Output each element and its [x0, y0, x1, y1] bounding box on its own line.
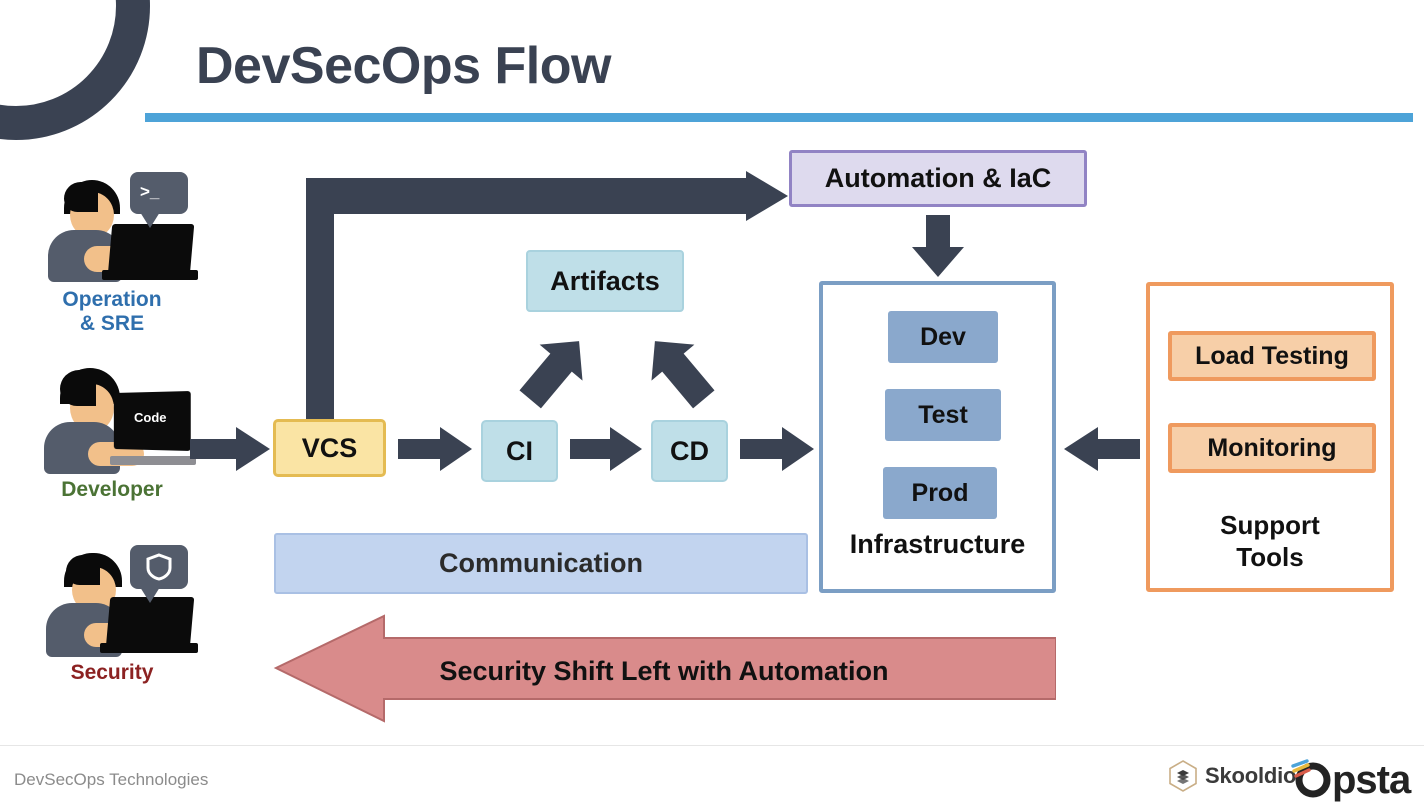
- connector-ci-to-cd: [570, 427, 642, 471]
- node-artifacts[interactable]: Artifacts: [526, 250, 684, 312]
- node-vcs[interactable]: VCS: [273, 419, 386, 477]
- connector-cd-to-artifacts: [640, 330, 720, 412]
- logo-skooldio: Skooldio: [1168, 760, 1296, 792]
- persona-label: Developer: [22, 478, 202, 502]
- corner-arc-decoration: [0, 0, 150, 140]
- bar-communication[interactable]: Communication: [274, 533, 808, 594]
- connector-support-tools-to-infrastructure: [1064, 427, 1140, 471]
- connector-developer-to-vcs: [190, 427, 270, 471]
- footer-caption: DevSecOps Technologies: [14, 770, 208, 790]
- skooldio-wordmark: Skooldio: [1205, 763, 1296, 789]
- footer-divider: [0, 745, 1424, 746]
- tool-load-testing[interactable]: Load Testing: [1168, 331, 1376, 381]
- persona-label: Security: [22, 661, 202, 685]
- persona-operation-sre: >_ Operation & SRE: [22, 172, 202, 337]
- opsta-ring-icon: [1288, 752, 1336, 800]
- shield-icon: [146, 553, 172, 581]
- person-shield-laptop-icon: [22, 545, 202, 657]
- connector-ci-to-artifacts: [514, 330, 594, 412]
- connector-cd-to-infrastructure: [740, 427, 814, 471]
- persona-label: Operation & SRE: [22, 288, 202, 337]
- persona-security: Security: [22, 545, 202, 685]
- env-prod[interactable]: Prod: [883, 467, 997, 519]
- support-tools-label: Support Tools: [1150, 510, 1390, 573]
- env-dev[interactable]: Dev: [888, 311, 998, 363]
- title-underline-rule: [145, 113, 1413, 122]
- logo-opsta: psta: [1288, 752, 1410, 800]
- tool-monitoring[interactable]: Monitoring: [1168, 423, 1376, 473]
- env-test[interactable]: Test: [885, 389, 1001, 441]
- node-automation-iac[interactable]: Automation & IaC: [789, 150, 1087, 207]
- infrastructure-label: Infrastructure: [823, 529, 1052, 560]
- person-monitor-code-icon: Code: [22, 362, 202, 474]
- node-cd[interactable]: CD: [651, 420, 728, 482]
- slide-canvas: DevSecOps Flow >_ Operation & SRE Code: [0, 0, 1424, 804]
- connector-vcs-to-ci: [398, 427, 472, 471]
- opsta-wordmark: psta: [1332, 760, 1410, 800]
- node-ci[interactable]: CI: [481, 420, 558, 482]
- skooldio-hexagon-icon: [1168, 760, 1198, 792]
- person-terminal-laptop-icon: >_: [22, 172, 202, 284]
- page-title: DevSecOps Flow: [196, 36, 611, 96]
- persona-developer: Code Developer: [22, 362, 202, 502]
- panel-support-tools: Load Testing Monitoring Support Tools: [1146, 282, 1394, 592]
- connector-automation-to-infrastructure: [912, 215, 964, 277]
- arrow-security-shift-left[interactable]: Security Shift Left with Automation: [272, 612, 1056, 725]
- panel-infrastructure: Dev Test Prod Infrastructure: [819, 281, 1056, 593]
